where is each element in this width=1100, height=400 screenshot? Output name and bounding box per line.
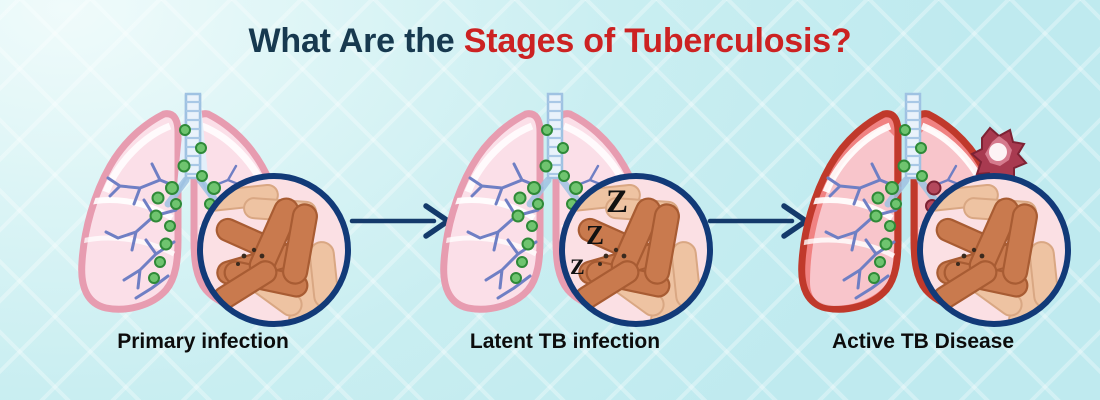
page-title: What Are the Stages of Tuberculosis? (0, 22, 1100, 61)
lungs-illustration-active (768, 92, 1078, 332)
tuberculosis-stages-infographic: What Are the Stages of Tuberculosis? (0, 0, 1100, 400)
bacteria-magnifier: Z Z Z (561, 176, 710, 332)
sleep-mark-small: Z (570, 254, 585, 279)
stage-primary-infection: Primary infection (48, 92, 358, 332)
lungs-illustration-primary (48, 92, 358, 332)
stage-caption-latent: Latent TB infection (410, 330, 720, 354)
stage-caption-active: Active TB Disease (768, 330, 1078, 354)
stage-active-tb-disease: Active TB Disease (768, 92, 1078, 332)
bacteria-magnifier (199, 176, 348, 332)
bacteria-magnifier (919, 176, 1068, 332)
page-title-red-part: Stages of Tuberculosis? (464, 22, 852, 60)
page-title-dark-part: What Are the (249, 22, 464, 60)
stage-latent-tb-infection: Z Z Z Latent TB infection (410, 92, 720, 332)
sleep-mark-medium: Z (586, 220, 604, 250)
stage-caption-primary: Primary infection (48, 330, 358, 354)
sleep-mark-large: Z (606, 184, 628, 220)
lungs-illustration-latent: Z Z Z (410, 92, 720, 332)
